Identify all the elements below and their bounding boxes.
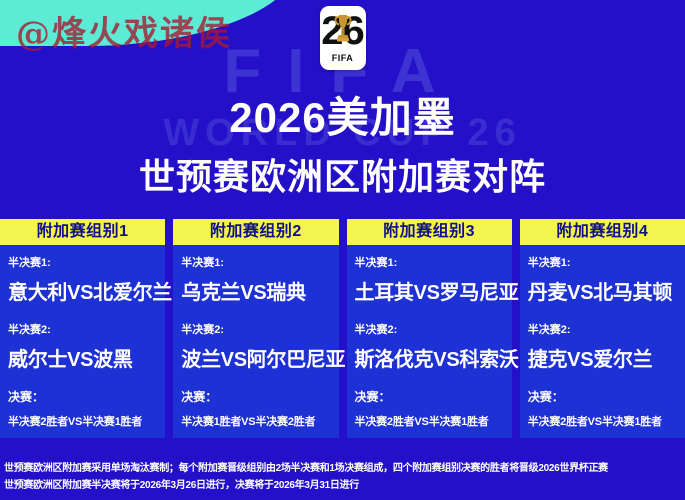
- semifinal-2-label: 半决赛2:: [528, 321, 679, 337]
- semifinal-2-label: 半决赛2:: [355, 321, 506, 337]
- final-matchup: 半决赛2胜者VS半决赛1胜者: [528, 413, 679, 429]
- playoff-path-1-header: 附加赛组别1: [0, 219, 165, 245]
- footer-note-format: 世预赛欧洲区附加赛采用单场淘汰赛制；每个附加赛晋级组别由2场半决赛和1场决赛组成…: [4, 460, 681, 477]
- final-matchup: 半决赛2胜者VS半决赛1胜者: [8, 413, 159, 429]
- final-label: 决赛：: [181, 388, 332, 405]
- playoff-path-2-header: 附加赛组别2: [173, 219, 338, 245]
- semifinal-1-label: 半决赛1:: [8, 254, 159, 270]
- playoff-path-cards: 附加赛组别1 半决赛1: 意大利VS北爱尔兰 半决赛2: 威尔士VS波黑 决赛：…: [0, 219, 685, 438]
- poster-root: FIFA WORLD CUP 26 @烽火戏诸侯 26 FIFA 2026美加墨…: [0, 0, 685, 500]
- playoff-path-4-header: 附加赛组别4: [520, 219, 685, 245]
- playoff-path-3-header: 附加赛组别3: [347, 219, 512, 245]
- footer-note-dates: 世预赛欧洲区附加赛半决赛将于2026年3月26日进行，决赛将于2026年3月31…: [4, 477, 681, 494]
- playoff-path-card-4: 附加赛组别4 半决赛1: 丹麦VS北马其顿 半决赛2: 捷克VS爱尔兰 决赛： …: [520, 219, 685, 438]
- fifa-logo-brand-text: FIFA: [320, 53, 366, 63]
- semifinal-1-matchup: 土耳其VS罗马尼亚: [355, 276, 506, 305]
- fifa-logo: 26 FIFA: [320, 6, 366, 70]
- semifinal-2-label: 半决赛2:: [8, 321, 159, 337]
- final-matchup: 半决赛2胜者VS半决赛1胜者: [355, 413, 506, 429]
- final-label: 决赛：: [528, 388, 679, 405]
- fifa-logo-badge: 26 FIFA: [320, 6, 366, 70]
- semifinal-2-matchup: 威尔士VS波黑: [8, 343, 159, 372]
- author-watermark: @烽火戏诸侯: [16, 6, 232, 55]
- playoff-path-card-2: 附加赛组别2 半决赛1: 乌克兰VS瑞典 半决赛2: 波兰VS阿尔巴尼亚 决赛：…: [173, 219, 338, 438]
- footer-notes: 世预赛欧洲区附加赛采用单场淘汰赛制；每个附加赛晋级组别由2场半决赛和1场决赛组成…: [0, 456, 685, 500]
- semifinal-2-matchup: 斯洛伐克VS科索沃: [355, 343, 506, 372]
- semifinal-1-label: 半决赛1:: [528, 254, 679, 270]
- playoff-path-4-body: 半决赛1: 丹麦VS北马其顿 半决赛2: 捷克VS爱尔兰 决赛： 半决赛2胜者V…: [520, 245, 685, 438]
- semifinal-2-label: 半决赛2:: [181, 321, 332, 337]
- page-subtitle: 世预赛欧洲区附加赛对阵: [0, 148, 685, 200]
- final-matchup: 半决赛1胜者VS半决赛2胜者: [181, 413, 332, 429]
- semifinal-2-matchup: 波兰VS阿尔巴尼亚: [181, 343, 332, 372]
- semifinal-1-label: 半决赛1:: [355, 254, 506, 270]
- semifinal-1-matchup: 乌克兰VS瑞典: [181, 276, 332, 305]
- semifinal-1-matchup: 丹麦VS北马其顿: [528, 276, 679, 305]
- playoff-path-card-1: 附加赛组别1 半决赛1: 意大利VS北爱尔兰 半决赛2: 威尔士VS波黑 决赛：…: [0, 219, 165, 438]
- playoff-path-2-body: 半决赛1: 乌克兰VS瑞典 半决赛2: 波兰VS阿尔巴尼亚 决赛： 半决赛1胜者…: [173, 245, 338, 438]
- final-label: 决赛：: [8, 388, 159, 405]
- world-cup-trophy-icon: [333, 13, 353, 49]
- final-label: 决赛：: [355, 388, 506, 405]
- semifinal-1-matchup: 意大利VS北爱尔兰: [8, 276, 159, 305]
- semifinal-2-matchup: 捷克VS爱尔兰: [528, 343, 679, 372]
- playoff-path-3-body: 半决赛1: 土耳其VS罗马尼亚 半决赛2: 斯洛伐克VS科索沃 决赛： 半决赛2…: [347, 245, 512, 438]
- playoff-path-card-3: 附加赛组别3 半决赛1: 土耳其VS罗马尼亚 半决赛2: 斯洛伐克VS科索沃 决…: [347, 219, 512, 438]
- page-title: 2026美加墨: [0, 84, 685, 145]
- semifinal-1-label: 半决赛1:: [181, 254, 332, 270]
- playoff-path-1-body: 半决赛1: 意大利VS北爱尔兰 半决赛2: 威尔士VS波黑 决赛： 半决赛2胜者…: [0, 245, 165, 438]
